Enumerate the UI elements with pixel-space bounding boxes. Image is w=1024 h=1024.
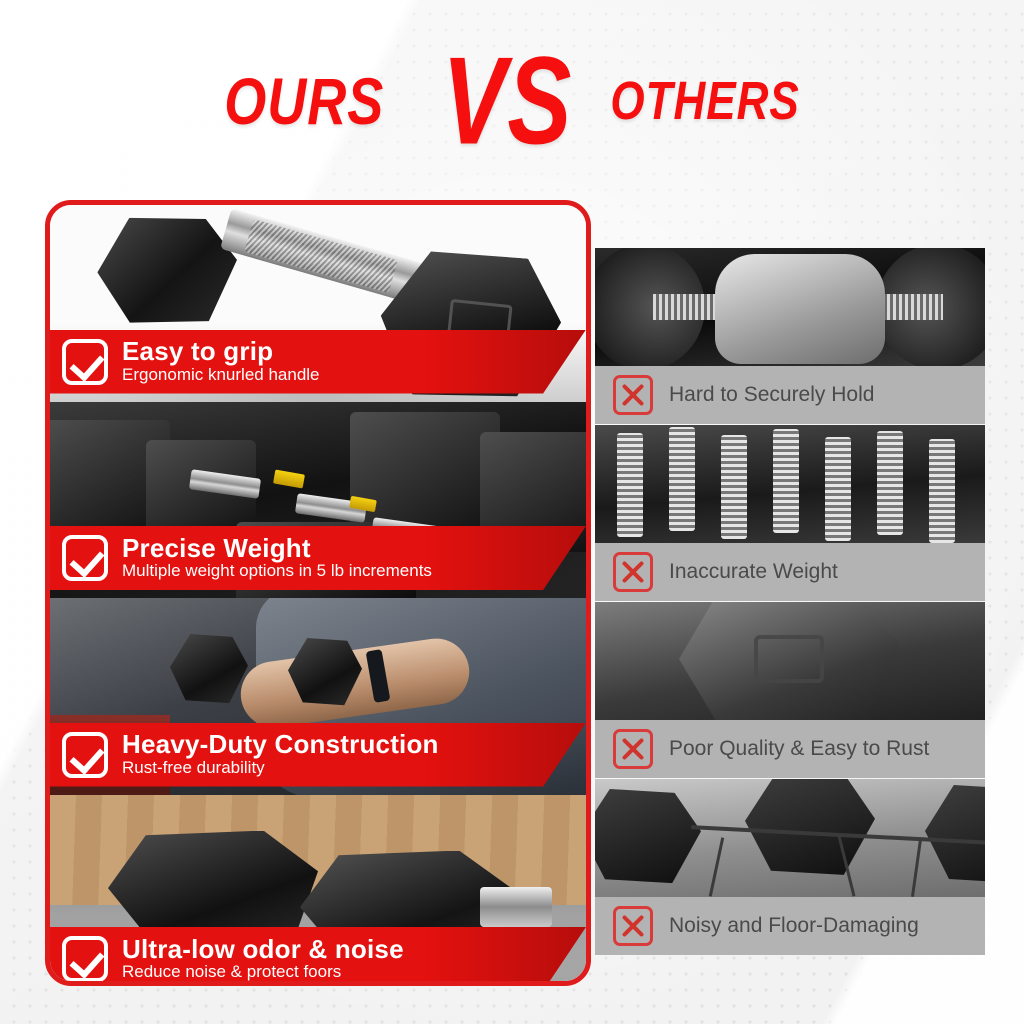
- drawback-label-row: Noisy and Floor-Damaging: [595, 897, 985, 955]
- check-icon: [62, 732, 108, 778]
- check-icon: [62, 339, 108, 385]
- feature-subtitle: Ergonomic knurled handle: [122, 365, 320, 384]
- feature-subtitle: Rust-free durability: [122, 758, 265, 777]
- competitor-photo-handles: [595, 425, 985, 543]
- feature-subtitle: Reduce noise & protect foors: [122, 962, 341, 981]
- feature-title: Easy to grip: [122, 336, 273, 366]
- x-icon: [613, 375, 653, 415]
- title-vs: VS: [442, 40, 572, 165]
- feature-subtitle: Multiple weight options in 5 lb incremen…: [122, 561, 432, 580]
- drawback-label: Inaccurate Weight: [669, 560, 838, 584]
- x-icon: [613, 552, 653, 592]
- ours-feature-item: Precise Weight Multiple weight options i…: [50, 402, 586, 599]
- ours-panel: Easy to grip Ergonomic knurled handle: [45, 200, 591, 986]
- drawback-label-row: Poor Quality & Easy to Rust: [595, 720, 985, 778]
- drawback-label: Noisy and Floor-Damaging: [669, 914, 919, 938]
- ours-feature-item: Easy to grip Ergonomic knurled handle: [50, 205, 586, 402]
- x-icon: [613, 906, 653, 946]
- others-drawback-item: Hard to Securely Hold: [595, 248, 985, 424]
- others-drawback-item: Poor Quality & Easy to Rust: [595, 602, 985, 778]
- comparison-layout: OURS VS OTHERS Easy to grip Ergonomic kn…: [0, 0, 1024, 1024]
- feature-title: Ultra-low odor & noise: [122, 934, 404, 964]
- drawback-label: Hard to Securely Hold: [669, 383, 874, 407]
- drawback-label: Poor Quality & Easy to Rust: [669, 737, 929, 761]
- competitor-photo-cracked-floor: [595, 779, 985, 897]
- drawback-label-row: Inaccurate Weight: [595, 543, 985, 601]
- feature-banner: Easy to grip Ergonomic knurled handle: [50, 330, 586, 394]
- others-drawback-item: Inaccurate Weight: [595, 425, 985, 601]
- check-icon: [62, 535, 108, 581]
- competitor-photo-grip: [595, 248, 985, 366]
- check-icon: [62, 936, 108, 982]
- ours-feature-item: Ultra-low odor & noise Reduce noise & pr…: [50, 795, 586, 987]
- feature-banner: Precise Weight Multiple weight options i…: [50, 526, 586, 590]
- page-title: OURS VS OTHERS: [0, 52, 1024, 152]
- feature-title: Precise Weight: [122, 533, 311, 563]
- competitor-photo-rust: [595, 602, 985, 720]
- others-drawback-item: Noisy and Floor-Damaging: [595, 779, 985, 955]
- title-others: OTHERS: [610, 75, 799, 129]
- title-ours: OURS: [224, 69, 384, 135]
- feature-banner: Heavy-Duty Construction Rust-free durabi…: [50, 723, 586, 787]
- feature-banner: Ultra-low odor & noise Reduce noise & pr…: [50, 927, 586, 986]
- x-icon: [613, 729, 653, 769]
- feature-title: Heavy-Duty Construction: [122, 729, 439, 759]
- ours-feature-item: Heavy-Duty Construction Rust-free durabi…: [50, 598, 586, 795]
- drawback-label-row: Hard to Securely Hold: [595, 366, 985, 424]
- others-panel: Hard to Securely Hold Inaccurate Weight …: [595, 248, 985, 956]
